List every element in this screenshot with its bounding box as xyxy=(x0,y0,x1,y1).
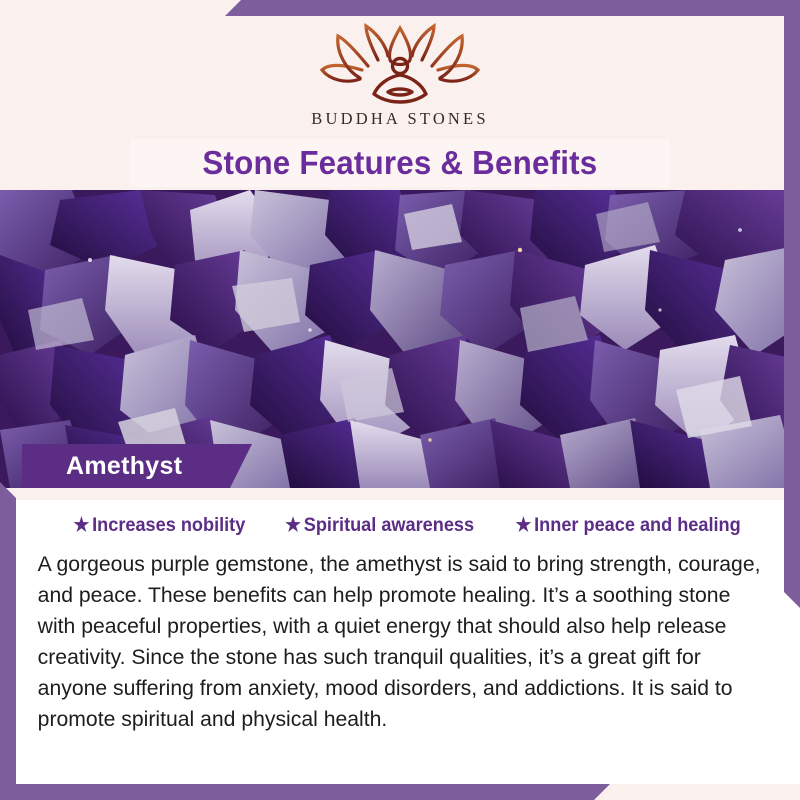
frame-left-bar xyxy=(0,482,16,800)
frame-top-bar xyxy=(225,0,800,16)
star-icon: ★ xyxy=(515,516,531,535)
benefit-item-2: ★ Inner peace and healing xyxy=(515,514,740,537)
amethyst-crystal-illustration xyxy=(0,190,800,488)
amethyst-photo: Amethyst xyxy=(0,190,800,488)
product-info-card: BUDDHA STONES Stone Features & Benefits xyxy=(0,0,800,800)
benefits-list: ★ Increases nobility ★ Spiritual awarene… xyxy=(16,514,800,537)
benefit-label: Increases nobility xyxy=(92,514,245,537)
frame-right-bar xyxy=(784,0,800,608)
benefit-label: Inner peace and healing xyxy=(534,514,741,537)
panel-gap xyxy=(0,488,800,500)
benefit-label: Spiritual awareness xyxy=(303,514,473,537)
benefit-item-1: ★ Spiritual awareness xyxy=(285,514,474,537)
brand-logo: BUDDHA STONES xyxy=(0,22,800,129)
brand-name: BUDDHA STONES xyxy=(311,109,488,129)
benefit-item-0: ★ Increases nobility xyxy=(73,514,245,537)
stone-name-text: Amethyst xyxy=(66,452,182,481)
star-icon: ★ xyxy=(285,516,301,535)
page-title-text: Stone Features & Benefits xyxy=(203,144,598,182)
frame-bottom-bar xyxy=(0,784,610,800)
lotus-meditation-logo-icon xyxy=(316,22,484,104)
stone-name-banner: Amethyst xyxy=(22,444,252,488)
card-header: BUDDHA STONES Stone Features & Benefits xyxy=(0,0,800,190)
page-title: Stone Features & Benefits xyxy=(130,139,670,187)
star-icon: ★ xyxy=(73,516,89,535)
content-panel: ★ Increases nobility ★ Spiritual awarene… xyxy=(16,500,800,784)
stone-description: A gorgeous purple gemstone, the amethyst… xyxy=(16,549,788,735)
